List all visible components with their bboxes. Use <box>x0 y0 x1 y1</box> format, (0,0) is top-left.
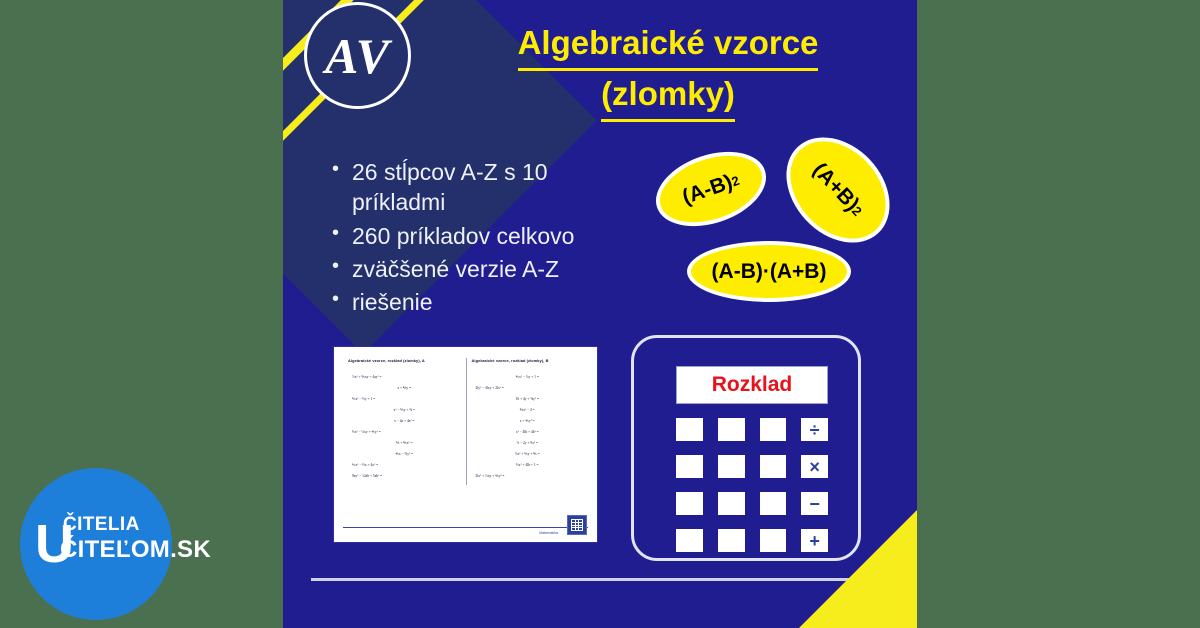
worksheet-heading-a: Algebraické vzorce, rozklad (zlomky), A <box>348 358 461 363</box>
worksheet-equation: ⅓ − 2y + 9x² = <box>472 441 584 445</box>
worksheet-equation: x² − ⅖y + ⅜ = <box>348 408 461 412</box>
worksheet-equation: ⅖ + ⅗x² = <box>348 441 461 445</box>
calculator-display: Rozklad <box>676 366 828 404</box>
formula-bubble-a-minus-b-squared: (A-B)2 <box>646 138 776 239</box>
calculator-key[interactable] <box>676 455 703 478</box>
worksheet-equation: x + ⅗y = <box>348 386 461 390</box>
calculator-key[interactable] <box>676 529 703 552</box>
worksheet-equation: ⅘x − ⅔y² = <box>348 452 461 456</box>
worksheet-column-b: Algebraické vzorce, rozklad (zlomky), B … <box>466 358 589 485</box>
formula-bubble-difference-of-squares: (A-B)·(A+B) <box>687 241 851 302</box>
title-line-1: Algebraické vzorce <box>518 20 819 71</box>
worksheet-equation: 2ly² − 4lxy + 2lx² = <box>472 386 584 390</box>
site-logo-line-1: ČITELIA <box>63 515 140 534</box>
feature-bullet-list: 26 stĺpcov A-Z s 10 príkladmi 260 príkla… <box>330 157 630 321</box>
worksheet-equation: ⅔x² + 4lb + 1 = <box>472 463 584 467</box>
worksheet-equation: x + ⅘y² = <box>472 419 584 423</box>
av-logo-badge: AV <box>304 2 411 109</box>
calculator-key[interactable] <box>718 455 745 478</box>
calculator-key[interactable] <box>760 455 787 478</box>
worksheet-equation: ⅑x² − ⅔x + 4x² = <box>348 463 461 467</box>
corner-triangle-yellow-bottom <box>799 510 917 628</box>
worksheet-footer: Matematika <box>343 527 588 535</box>
page-title: Algebraické vzorce (zlomky) <box>433 20 903 122</box>
worksheet-equation: x − 4a + 4a² = <box>348 419 461 423</box>
worksheet-equation: ⅖x² − 4 = <box>472 408 584 412</box>
calculator-display-text: Rozklad <box>712 373 793 397</box>
site-logo-inner: U ČITELIA ČITEĽOM.SK <box>35 511 157 577</box>
slide: AV Algebraické vzorce (zlomky) 26 stĺpco… <box>283 0 917 628</box>
calculator-key-multiply[interactable]: × <box>801 455 828 478</box>
worksheet-equation: ⅔x² − ⅓xy + ⅘y² = <box>348 430 461 434</box>
worksheet-equation: ⅓x² + ⅖y + ⅗ = <box>472 452 584 456</box>
worksheet-equation: ⅑x² − ⅓y + 1 = <box>472 375 584 379</box>
site-logo[interactable]: U ČITELIA ČITEĽOM.SK <box>20 468 172 620</box>
worksheet-subject-label: Matematika <box>343 531 588 535</box>
title-line-2: (zlomky) <box>601 71 735 122</box>
calculator-key[interactable] <box>718 492 745 515</box>
formula-base: (A-B)·(A+B) <box>712 260 827 284</box>
calculator-key[interactable] <box>760 492 787 515</box>
calculator-icon <box>567 515 587 535</box>
calculator-icon-grid <box>571 519 583 531</box>
list-item: riešenie <box>352 287 630 317</box>
calculator-key[interactable] <box>718 418 745 441</box>
worksheet-equation: 16 + 4y + ⅝y² = <box>472 397 584 401</box>
worksheet-column-a: Algebraické vzorce, rozklad (zlomky), A … <box>343 358 466 485</box>
list-item: 26 stĺpcov A-Z s 10 príkladmi <box>352 157 630 218</box>
worksheet-heading-b: Algebraické vzorce, rozklad (zlomky), B <box>472 358 584 363</box>
list-item: zväčšené verzie A-Z <box>352 254 630 284</box>
av-logo-text: AV <box>325 27 390 85</box>
formula-base: (A-B) <box>679 170 735 209</box>
calculator-key[interactable] <box>676 418 703 441</box>
calculator-key[interactable] <box>760 418 787 441</box>
worksheet-equation: x² − 4lb + 4b² = <box>472 430 584 434</box>
worksheet-equation: ⅓x² + ⅖xy + 4ay² = <box>348 375 461 379</box>
calculator-key-divide[interactable]: ÷ <box>801 418 828 441</box>
worksheet-footer-rule <box>343 527 588 528</box>
worksheet-preview[interactable]: Algebraické vzorce, rozklad (zlomky), A … <box>333 346 598 543</box>
worksheet-equation: 2lx² + ⅓xy + ⅘y² = <box>472 474 584 478</box>
calculator-key[interactable] <box>718 529 745 552</box>
calculator-key[interactable] <box>676 492 703 515</box>
calculator-key[interactable] <box>760 529 787 552</box>
site-logo-line-2: ČITEĽOM.SK <box>60 538 211 562</box>
list-item: 260 príkladov celkovo <box>352 221 630 251</box>
worksheet-columns: Algebraické vzorce, rozklad (zlomky), A … <box>334 347 597 485</box>
worksheet-equation: 9ay² − 12ab + 5ab² = <box>348 474 461 478</box>
worksheet-equation: ⅑x² − ⅔y + 1 = <box>348 397 461 401</box>
